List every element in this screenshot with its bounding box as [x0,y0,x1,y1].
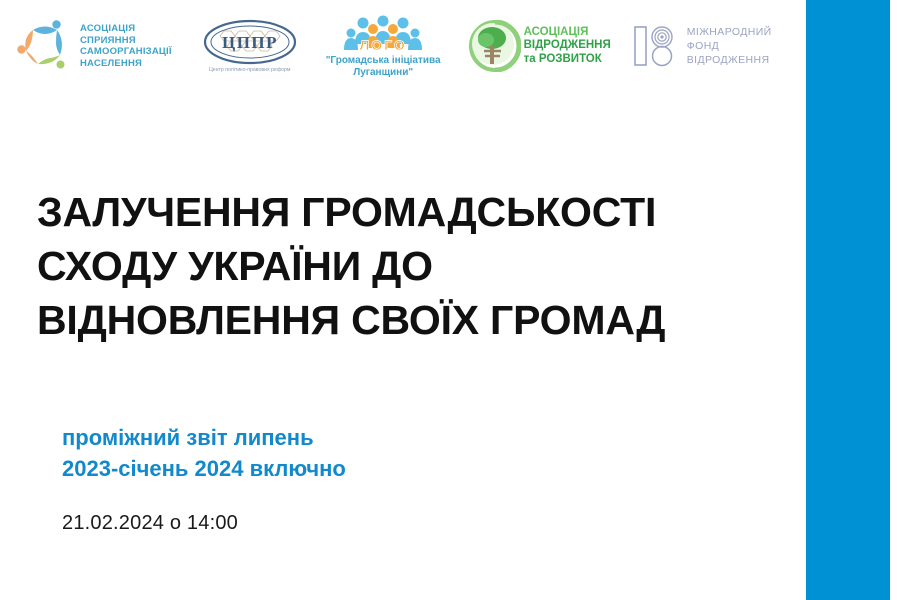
page-title: ЗАЛУЧЕННЯ ГРОМАДСЬКОСТІ СХОДУ УКРАЇНИ ДО… [37,185,807,347]
logo-asn-line-1: АСОЦІАЦІЯ [80,23,135,34]
people-group-icon: ЛОГО [337,14,429,54]
logo-tsppr-subtitle: Центр політико-правових реформ [202,67,298,74]
oval-hexagon-emblem-icon: ЦППР [203,19,297,65]
logo-mizhnarodnyi-fond-vidrodzhennya: МІЖНАРОДНИЙ ФОНД ВІДРОДЖЕННЯ [633,25,772,67]
logo-asotsiatsiya-spryyannya: АСОЦІАЦІЯ СПРИЯННЯ САМООРГАНІЗАЦІЇ НАСЕЛ… [16,17,172,75]
page-title-line-3: ВІДНОВЛЕННЯ СВОЇХ ГРОМАД [37,293,807,347]
three-people-triangle-icon [16,17,74,75]
event-datetime: 21.02.2024 о 14:00 [62,512,238,535]
right-accent-bar [806,0,890,600]
logo-asn-line-3: САМООРГАНІЗАЦІЇ [80,46,172,57]
logo-irf-line-1: МІЖНАРОДНИЙ [687,26,772,38]
logo-gil-line-1: "Громадська ініціатива [326,55,441,66]
page-title-line-2: СХОДУ УКРАЇНИ ДО [37,239,807,293]
logo-irf-line-3: ВІДРОДЖЕННЯ [687,54,770,66]
bar-spiral-circle-icon [633,25,679,67]
report-subtitle: проміжний звіт липень 2023-січень 2024 в… [62,422,346,484]
logo-asn-line-4: НАСЕЛЕННЯ [80,58,142,69]
logo-avr-line-3: та РОЗВИТОК [524,53,602,65]
logo-avr-text: АСОЦІАЦІЯ ВІДРОДЖЕННЯ та РОЗВИТОК [524,26,611,67]
logo-placeholder-badge: ЛОГО [337,37,429,53]
logo-gil-line-2: Луганщини" [353,67,413,78]
report-subtitle-line-1: проміжний звіт липень [62,422,346,453]
presentation-slide: АСОЦІАЦІЯ СПРИЯННЯ САМООРГАНІЗАЦІЇ НАСЕЛ… [0,0,900,600]
logo-vidrodzhennya-ta-rozvytok: АСОЦІАЦІЯ ВІДРОДЖЕННЯ та РОЗВИТОК [469,20,611,72]
logo-avr-line-2: ВІДРОДЖЕННЯ [524,39,611,51]
logo-avr-line-1: АСОЦІАЦІЯ [524,26,589,38]
logo-tsppr: ЦППР Центр політико-правових реформ [202,19,298,74]
svg-text:ЦППР: ЦППР [222,33,278,52]
partner-logo-strip: АСОЦІАЦІЯ СПРИЯННЯ САМООРГАНІЗАЦІЇ НАСЕЛ… [0,0,800,92]
logo-gromadska-initsiatyva: ЛОГО "Громадська ініціатива Луганщини" [326,14,441,79]
logo-asn-line-2: СПРИЯННЯ [80,35,136,46]
report-subtitle-line-2: 2023-січень 2024 включно [62,453,346,484]
tree-in-circle-icon [469,20,521,72]
page-title-line-1: ЗАЛУЧЕННЯ ГРОМАДСЬКОСТІ [37,185,807,239]
logo-irf-line-2: ФОНД [687,40,719,52]
logo-asn-text: АСОЦІАЦІЯ СПРИЯННЯ САМООРГАНІЗАЦІЇ НАСЕЛ… [80,23,172,69]
logo-irf-text: МІЖНАРОДНИЙ ФОНД ВІДРОДЖЕННЯ [687,25,772,67]
logo-gil-text: "Громадська ініціатива Луганщини" [326,55,441,79]
